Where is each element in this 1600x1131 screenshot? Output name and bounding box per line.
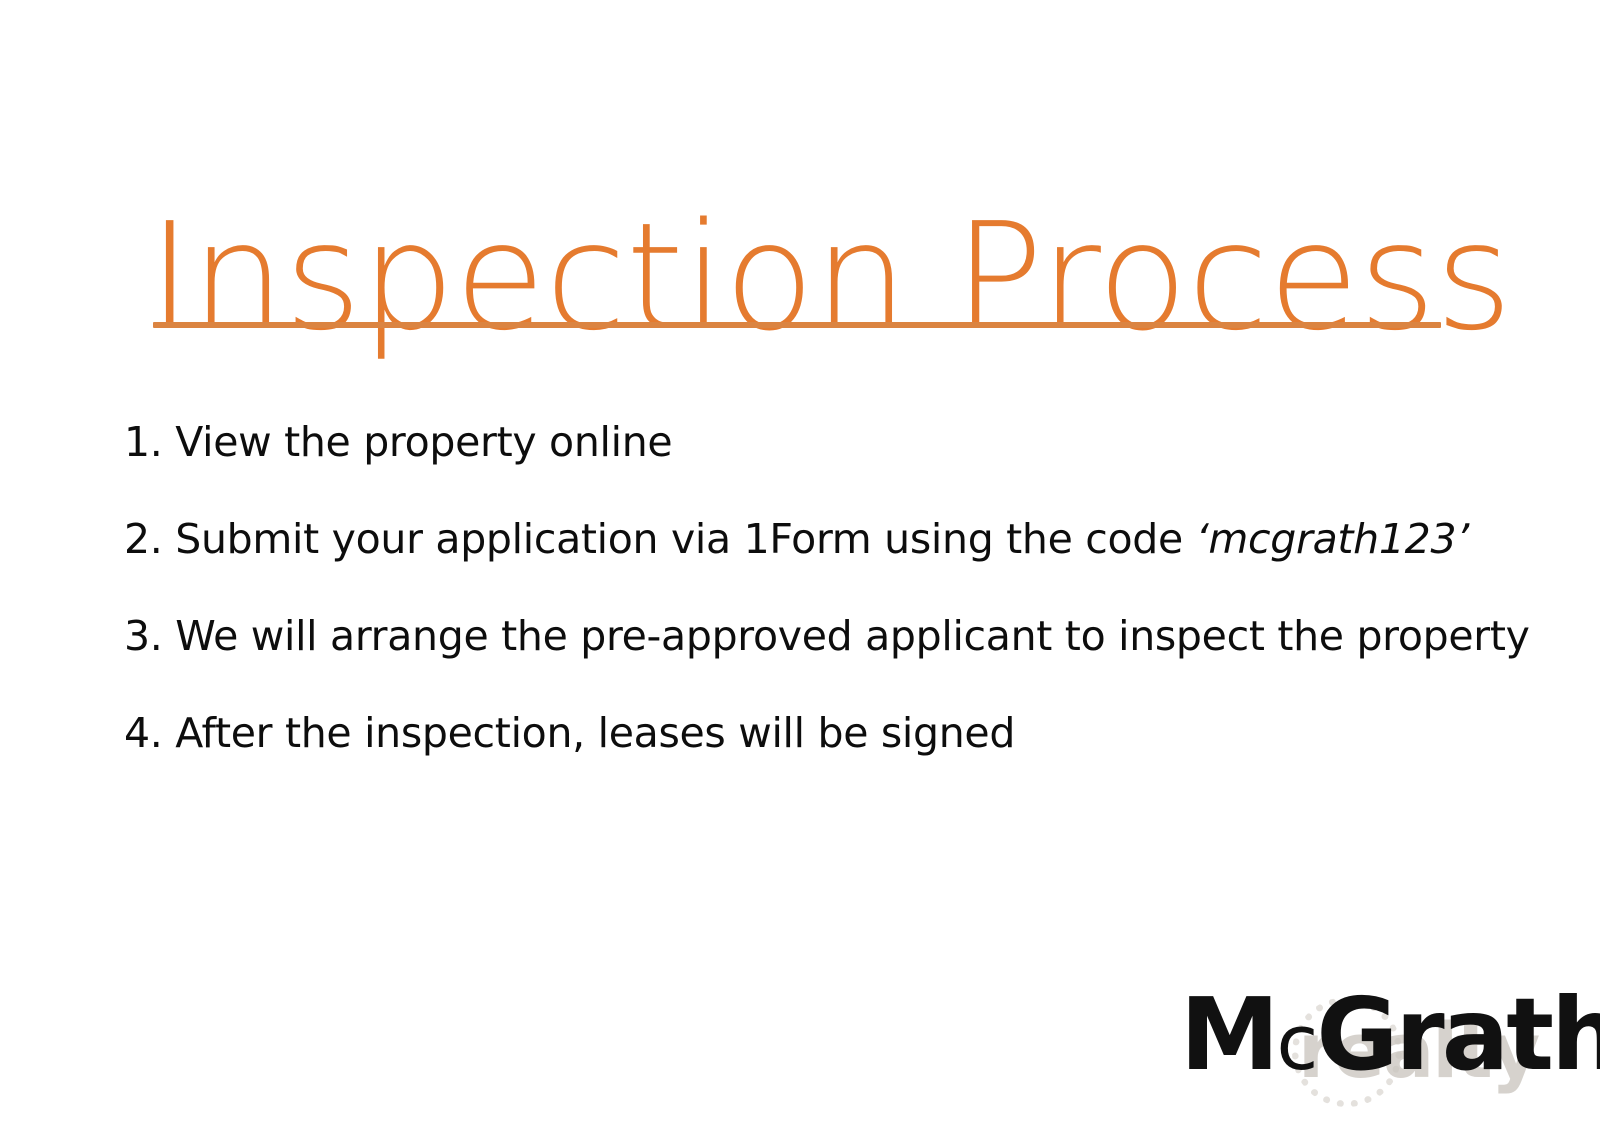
list-item-text: Submit your application via 1Form using … [175,515,1195,563]
list-item: 3. We will arrange the pre-approved appl… [124,614,1524,660]
inspection-steps-list: 1. View the property online 2. Submit yo… [124,420,1524,808]
list-item-number: 4. [124,709,163,757]
brand-logo: realty McGrath [1180,985,1580,1095]
list-item: 4. After the inspection, leases will be … [124,711,1524,757]
list-item-text: View the property online [175,418,672,466]
list-item-number: 2. [124,515,163,563]
list-item-text: We will arrange the pre-approved applica… [175,612,1529,660]
title-divider [153,322,1441,328]
logo-letter-c: c [1277,998,1317,1087]
logo-letter-m: M [1180,976,1277,1093]
application-code: ‘mcgrath123’ [1196,515,1469,563]
mcgrath-wordmark: McGrath [1180,985,1600,1085]
logo-text-grath: Grath [1316,976,1600,1093]
list-item-number: 1. [124,418,163,466]
slide-canvas: Inspection Process 1. View the property … [0,0,1600,1131]
list-item: 2. Submit your application via 1Form usi… [124,517,1524,563]
list-item-number: 3. [124,612,163,660]
list-item-text: After the inspection, leases will be sig… [175,709,1015,757]
page-title: Inspection Process [148,203,1488,351]
list-item: 1. View the property online [124,420,1524,466]
